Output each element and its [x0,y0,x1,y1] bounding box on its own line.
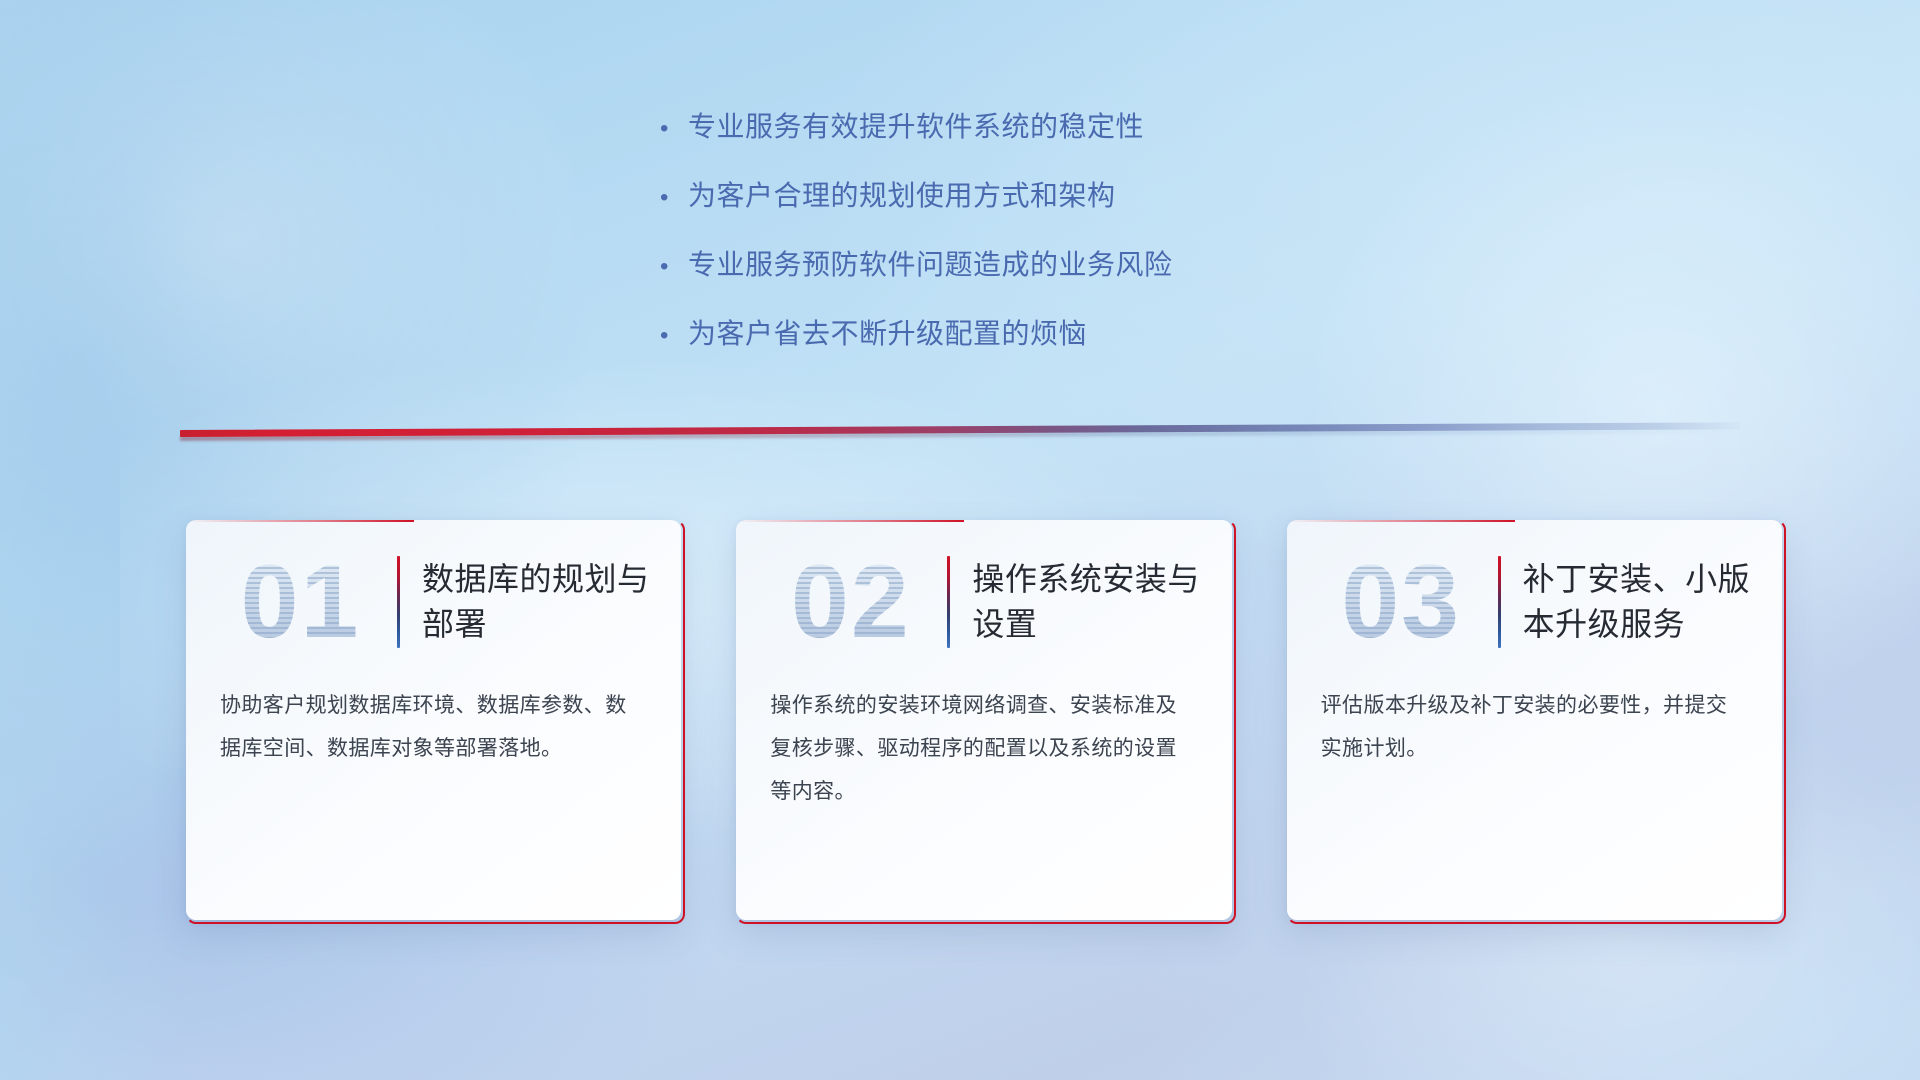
card-header: 01 数据库的规划与部署 [186,520,681,670]
card-header: 02 操作系统安装与设置 [736,520,1231,670]
section-divider [180,424,1740,446]
card-title: 补丁安装、小版本升级服务 [1523,557,1752,647]
card-divider-bar [397,556,400,648]
bullet-text: 专业服务预防软件问题造成的业务风险 [688,246,1173,284]
card-number-watermark: 01 [208,550,393,654]
card-number-watermark: 03 [1309,550,1494,654]
benefits-bullet-list: • 专业服务有效提升软件系统的稳定性 • 为客户合理的规划使用方式和架构 • 专… [660,108,1520,384]
card-description: 评估版本升级及补丁安装的必要性，并提交实施计划。 [1287,670,1782,770]
card-description: 协助客户规划数据库环境、数据库参数、数据库空间、数据库对象等部署落地。 [186,670,681,770]
card-title: 数据库的规划与部署 [422,557,651,647]
list-item: • 专业服务预防软件问题造成的业务风险 [660,246,1520,284]
service-card-group: 01 数据库的规划与部署 协助客户规划数据库环境、数据库参数、数据库空间、数据库… [186,520,1782,920]
list-item: • 为客户合理的规划使用方式和架构 [660,177,1520,215]
bullet-dot-icon: • [660,110,688,148]
bullet-dot-icon: • [660,179,688,217]
card-divider-bar [947,556,950,648]
card-content: 03 补丁安装、小版本升级服务 评估版本升级及补丁安装的必要性，并提交实施计划。 [1287,520,1782,920]
service-card-02[interactable]: 02 操作系统安装与设置 操作系统的安装环境网络调查、安装标准及复核步骤、驱动程… [736,520,1231,920]
list-item: • 为客户省去不断升级配置的烦恼 [660,315,1520,353]
slide-root: • 专业服务有效提升软件系统的稳定性 • 为客户合理的规划使用方式和架构 • 专… [0,0,1920,1080]
background-sheen-left-band [0,0,180,1080]
card-content: 01 数据库的规划与部署 协助客户规划数据库环境、数据库参数、数据库空间、数据库… [186,520,681,920]
list-item: • 专业服务有效提升软件系统的稳定性 [660,108,1520,146]
card-title: 操作系统安装与设置 [972,557,1201,647]
card-content: 02 操作系统安装与设置 操作系统的安装环境网络调查、安装标准及复核步骤、驱动程… [736,520,1231,920]
card-divider-bar [1498,556,1501,648]
bullet-text: 为客户合理的规划使用方式和架构 [688,177,1116,215]
card-header: 03 补丁安装、小版本升级服务 [1287,520,1782,670]
service-card-01[interactable]: 01 数据库的规划与部署 协助客户规划数据库环境、数据库参数、数据库空间、数据库… [186,520,681,920]
card-description: 操作系统的安装环境网络调查、安装标准及复核步骤、驱动程序的配置以及系统的设置等内… [736,670,1231,813]
bullet-dot-icon: • [660,317,688,355]
card-number-watermark: 02 [758,550,943,654]
service-card-03[interactable]: 03 补丁安装、小版本升级服务 评估版本升级及补丁安装的必要性，并提交实施计划。 [1287,520,1782,920]
bullet-text: 专业服务有效提升软件系统的稳定性 [688,108,1144,146]
bullet-dot-icon: • [660,248,688,286]
bullet-text: 为客户省去不断升级配置的烦恼 [688,315,1087,353]
